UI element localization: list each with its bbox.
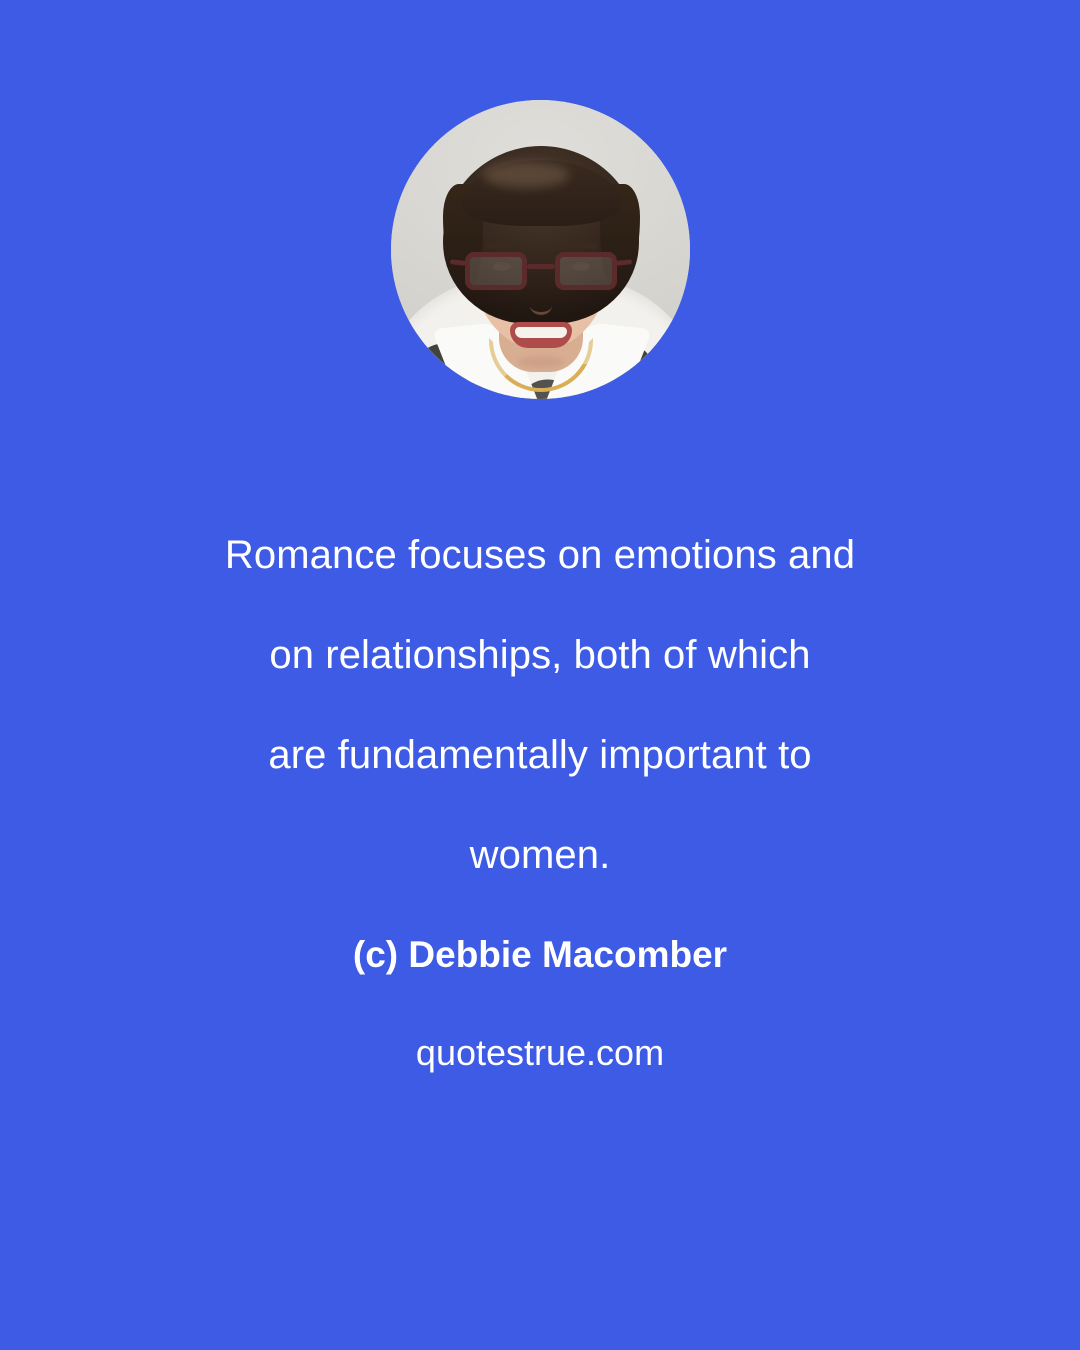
chin-shadow [518,356,564,368]
author-portrait [391,100,690,399]
quote-line: on relationships, both of which [0,605,1080,705]
nose-shape [530,296,552,315]
eyeglasses [465,252,617,292]
hair-highlight [483,162,569,188]
floral-print-blob [655,351,689,389]
quote-line: are fundamentally important to [0,705,1080,805]
quote-attribution: (c) Debbie Macomber [0,928,1080,982]
portrait-circle [391,100,690,399]
glasses-bridge [527,264,555,269]
lens-left [465,252,527,290]
mouth-shape [510,322,572,348]
lens-right [555,252,617,290]
quote-card: Romance focuses on emotions and on relat… [0,0,1080,1350]
teeth-shape [515,327,567,338]
source-website: quotestrue.com [0,1026,1080,1080]
quote-line: Romance focuses on emotions and [0,505,1080,605]
quote-line: women. [0,805,1080,905]
quote-text: Romance focuses on emotions and on relat… [0,505,1080,905]
